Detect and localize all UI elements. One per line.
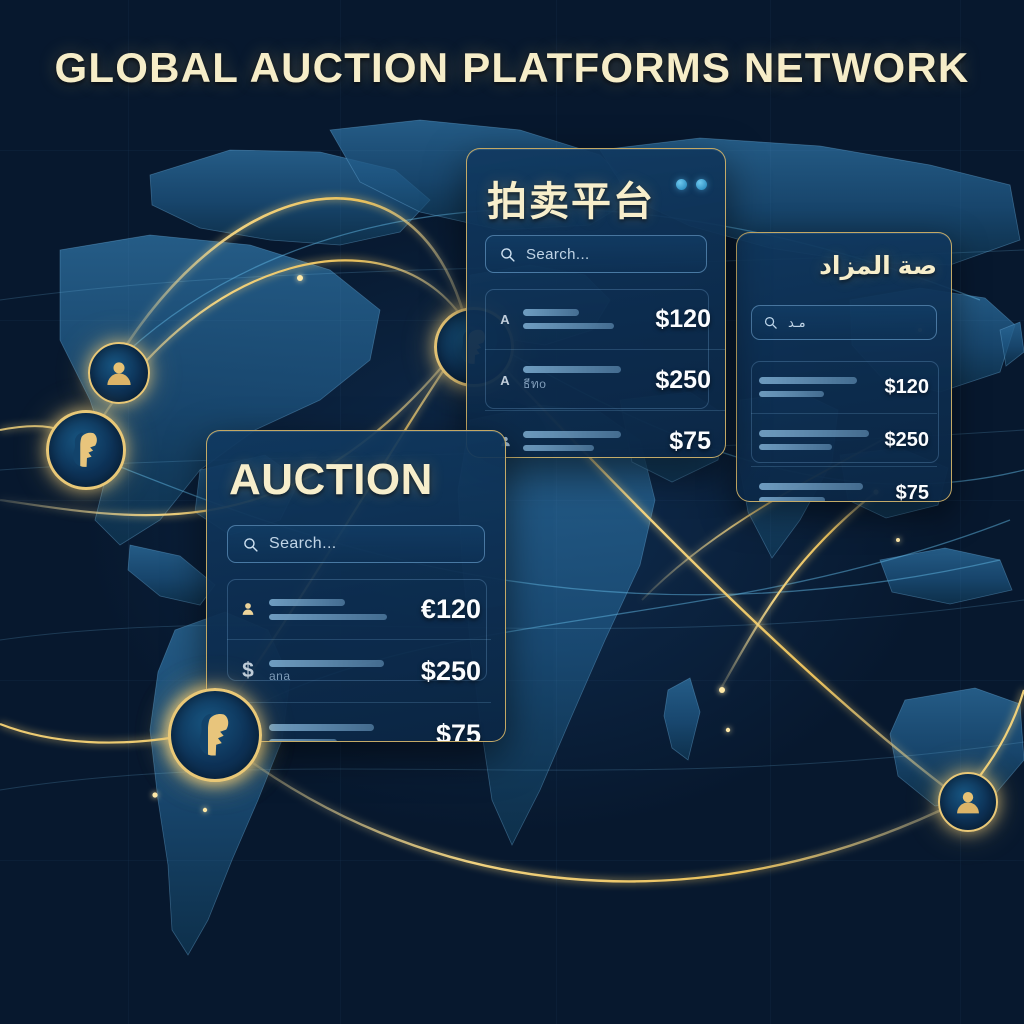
listing-placeholder-bars xyxy=(759,430,885,450)
search-input-arabic[interactable]: مـد xyxy=(751,305,937,340)
listing-price: €120 xyxy=(421,594,481,625)
listing-row[interactable]: $75 xyxy=(227,702,491,742)
listing-placeholder-bars: ธีทo xyxy=(523,366,645,394)
search-icon xyxy=(242,536,259,553)
panel-title-chinese: 拍卖平台 xyxy=(487,169,655,227)
auction-panel-main[interactable]: AUCTION Search... €120 xyxy=(206,430,506,742)
listing-row[interactable]: A $120 xyxy=(485,289,725,349)
person-avatar-icon xyxy=(952,786,984,818)
search-icon xyxy=(763,315,778,330)
listing-price: $120 xyxy=(885,376,930,399)
listing-row[interactable]: €120 xyxy=(227,579,491,639)
search-input-chinese[interactable]: Search... xyxy=(485,235,707,273)
search-placeholder-chinese: Search... xyxy=(526,246,590,263)
listing-price: $120 xyxy=(655,305,711,334)
person-avatar-icon xyxy=(102,356,136,390)
node-south-america-overlay[interactable] xyxy=(168,688,262,782)
listing-placeholder-bars: ana xyxy=(269,660,409,683)
listing-placeholder-bars xyxy=(759,483,896,502)
node-oceania[interactable] xyxy=(938,772,998,832)
listing-placeholder-bars xyxy=(759,377,885,397)
woman-avatar-icon xyxy=(63,427,109,473)
search-icon xyxy=(499,246,516,263)
window-dot-icon[interactable] xyxy=(696,179,707,190)
listing-price: $75 xyxy=(436,719,481,743)
listing-row[interactable]: A ธีทo $250 xyxy=(485,349,725,410)
auction-panel-arabic[interactable]: صة المزاد مـد $120 $250 xyxy=(736,232,952,502)
panel-title-arabic: صة المزاد xyxy=(819,251,937,281)
panel-title-main: AUCTION xyxy=(229,455,433,505)
listing-placeholder-bars xyxy=(523,309,645,329)
search-input-main[interactable]: Search... xyxy=(227,525,485,563)
node-north-america[interactable] xyxy=(88,342,150,404)
listing-row[interactable]: $120 xyxy=(751,361,937,413)
listing-rows-main: €120 $ ana $250 $75 xyxy=(227,579,491,742)
search-placeholder-arabic: مـد xyxy=(788,315,806,331)
search-placeholder-main: Search... xyxy=(269,535,337,553)
listing-subtext: ana xyxy=(269,669,409,683)
listing-price: $250 xyxy=(885,429,930,452)
window-controls-chinese[interactable] xyxy=(676,179,707,190)
window-dot-icon[interactable] xyxy=(676,179,687,190)
listing-rows-arabic: $120 $250 $75 xyxy=(751,361,937,502)
listing-row[interactable]: $ ana $250 xyxy=(227,639,491,702)
listing-row[interactable]: $75 xyxy=(751,466,937,502)
listing-rows-chinese: A $120 A ธีทo $250 xyxy=(485,289,725,458)
listing-placeholder-bars xyxy=(269,599,409,620)
person-icon xyxy=(237,601,259,617)
listing-price: $250 xyxy=(655,366,711,395)
listing-placeholder-bars xyxy=(523,431,659,451)
woman-avatar-icon xyxy=(187,707,243,763)
listing-price: $250 xyxy=(421,656,481,687)
listing-price: $75 xyxy=(669,427,711,456)
listing-row[interactable]: $250 xyxy=(751,413,937,466)
listing-placeholder-bars xyxy=(269,724,424,743)
listing-subtext: ธีทo xyxy=(523,375,645,394)
global-auction-network-infographic: GLOBAL AUCTION PLATFORMS NETWORK xyxy=(0,0,1024,1024)
dollar-icon: $ xyxy=(237,659,259,683)
page-title: GLOBAL AUCTION PLATFORMS NETWORK xyxy=(0,44,1024,92)
listing-price: $75 xyxy=(896,482,929,503)
tag-icon: A xyxy=(495,312,515,327)
listing-row[interactable]: $75 xyxy=(485,410,725,458)
auction-panel-chinese[interactable]: 拍卖平台 Search... A $120 xyxy=(466,148,726,458)
node-caribbean[interactable] xyxy=(46,410,126,490)
tag-icon: A xyxy=(495,373,515,388)
